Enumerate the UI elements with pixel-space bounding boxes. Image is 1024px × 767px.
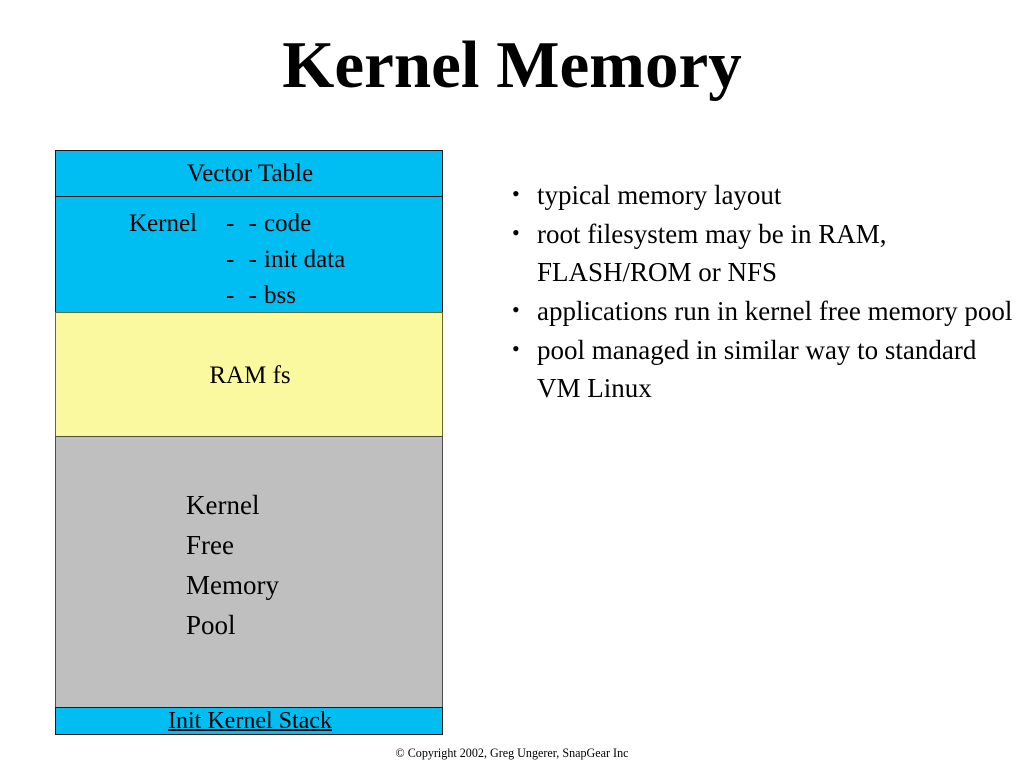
memory-block-init-kernel-stack: Init Kernel Stack: [55, 707, 443, 735]
memory-block-init-kernel-stack-label: Init Kernel Stack: [56, 708, 443, 734]
memory-block-kernel: Kernel - - code - - init data - - bss: [55, 196, 443, 313]
kernel-block-rows: Kernel - - code - - init data - - bss: [56, 206, 443, 313]
bullet-point-icon: •: [512, 214, 520, 252]
memory-map-diagram: Vector Table Kernel - - code - - init da…: [55, 150, 443, 735]
kernel-row-item: bss: [264, 278, 296, 313]
bullet-item-label: root filesystem may be in RAM, FLASH/ROM…: [537, 215, 1021, 291]
pool-line: Memory: [186, 565, 279, 605]
memory-block-ram-fs: RAM fs: [55, 312, 443, 437]
bullet-item-label: pool managed in similar way to standard …: [537, 331, 1021, 407]
page-title: Kernel Memory: [0, 26, 1024, 104]
kernel-row: - - init data: [56, 242, 443, 278]
kernel-row-item: code: [264, 206, 311, 242]
bullet-item: • typical memory layout: [509, 176, 1021, 214]
memory-block-vector-table: Vector Table: [55, 150, 443, 197]
init-kernel-stack-text: Init Kernel Stack: [168, 708, 332, 734]
kernel-row: - - bss: [56, 278, 443, 313]
pool-line: Pool: [186, 605, 279, 645]
memory-block-ram-fs-label: RAM fs: [56, 361, 443, 390]
kernel-row-item: init data: [264, 242, 345, 278]
memory-block-vector-table-label: Vector Table: [56, 159, 443, 188]
bullet-point-icon: •: [512, 330, 520, 368]
bullet-item-label: applications run in kernel free memory p…: [537, 292, 1021, 330]
bullet-list: • typical memory layout • root filesyste…: [509, 176, 1021, 408]
kernel-row-name: Kernel: [129, 206, 197, 242]
bullet-point-icon: •: [512, 291, 520, 329]
bullet-item: • root filesystem may be in RAM, FLASH/R…: [509, 215, 1021, 291]
kernel-row-dash: - -: [226, 278, 261, 313]
pool-line: Kernel: [186, 485, 279, 525]
bullet-item: • pool managed in similar way to standar…: [509, 331, 1021, 407]
kernel-row: Kernel - - code: [56, 206, 443, 242]
pool-line: Free: [186, 525, 279, 565]
kernel-row-dash: - -: [226, 242, 261, 278]
kernel-row-dash: - -: [226, 206, 261, 242]
bullet-item: • applications run in kernel free memory…: [509, 292, 1021, 330]
bullet-item-label: typical memory layout: [537, 176, 1021, 214]
bullet-point-icon: •: [512, 175, 520, 213]
memory-block-kernel-free-memory-pool: Kernel Free Memory Pool: [55, 436, 443, 708]
copyright-notice: © Copyright 2002, Greg Ungerer, SnapGear…: [36, 745, 988, 761]
pool-block-lines: Kernel Free Memory Pool: [186, 485, 279, 645]
